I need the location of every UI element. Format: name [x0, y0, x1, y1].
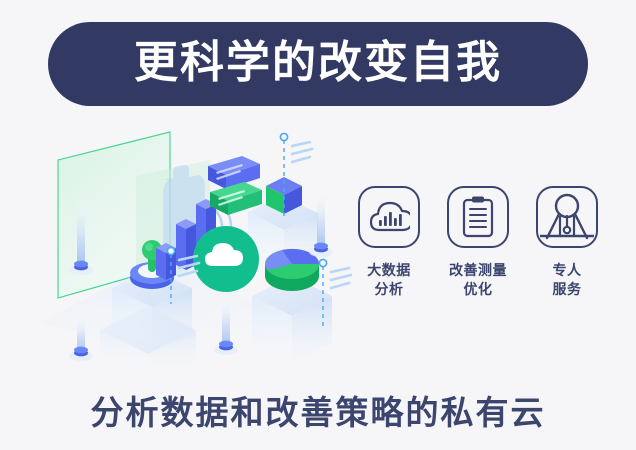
feature-label-line-1: 改善测量	[449, 261, 507, 280]
clipboard-icon	[459, 195, 497, 239]
feature-item-measure-optimize[interactable]: 改善测量 优化	[439, 186, 517, 299]
person-service-icon	[538, 188, 596, 246]
feature-item-expert-service[interactable]: 专人 服务	[528, 186, 606, 299]
feature-label-line-2: 分析	[367, 280, 411, 299]
signage-card-blue	[208, 156, 260, 189]
footer-tagline: 分析数据和改善策略的私有云	[0, 386, 636, 434]
page-title: 更科学的改变自我	[134, 41, 502, 85]
feature-label-measure-optimize: 改善测量 优化	[449, 261, 507, 299]
pie-chart-3d	[265, 249, 319, 291]
illustration-svg	[30, 118, 370, 368]
feature-label-big-data-analysis: 大数据 分析	[367, 261, 411, 299]
feature-list: 大数据 分析 改善测量 优化	[350, 186, 606, 336]
clipboard-icon-frame	[447, 186, 509, 248]
illustration-isometric-scene	[30, 118, 370, 368]
cloud-bar-chart-icon	[368, 199, 410, 235]
promo-banner-root: 更科学的改变自我	[0, 0, 636, 450]
cloud-bar-chart-icon-frame	[358, 186, 420, 248]
feature-label-line-1: 大数据	[367, 261, 411, 280]
feature-label-line-1: 专人	[553, 261, 582, 280]
header-pill-banner: 更科学的改变自我	[48, 22, 588, 106]
feature-label-line-2: 优化	[449, 280, 507, 299]
cloud-badge	[193, 226, 259, 292]
person-service-icon-frame	[536, 186, 598, 248]
feature-label-line-2: 服务	[553, 280, 582, 299]
feature-item-big-data-analysis[interactable]: 大数据 分析	[350, 186, 428, 299]
feature-label-expert-service: 专人 服务	[553, 261, 582, 299]
